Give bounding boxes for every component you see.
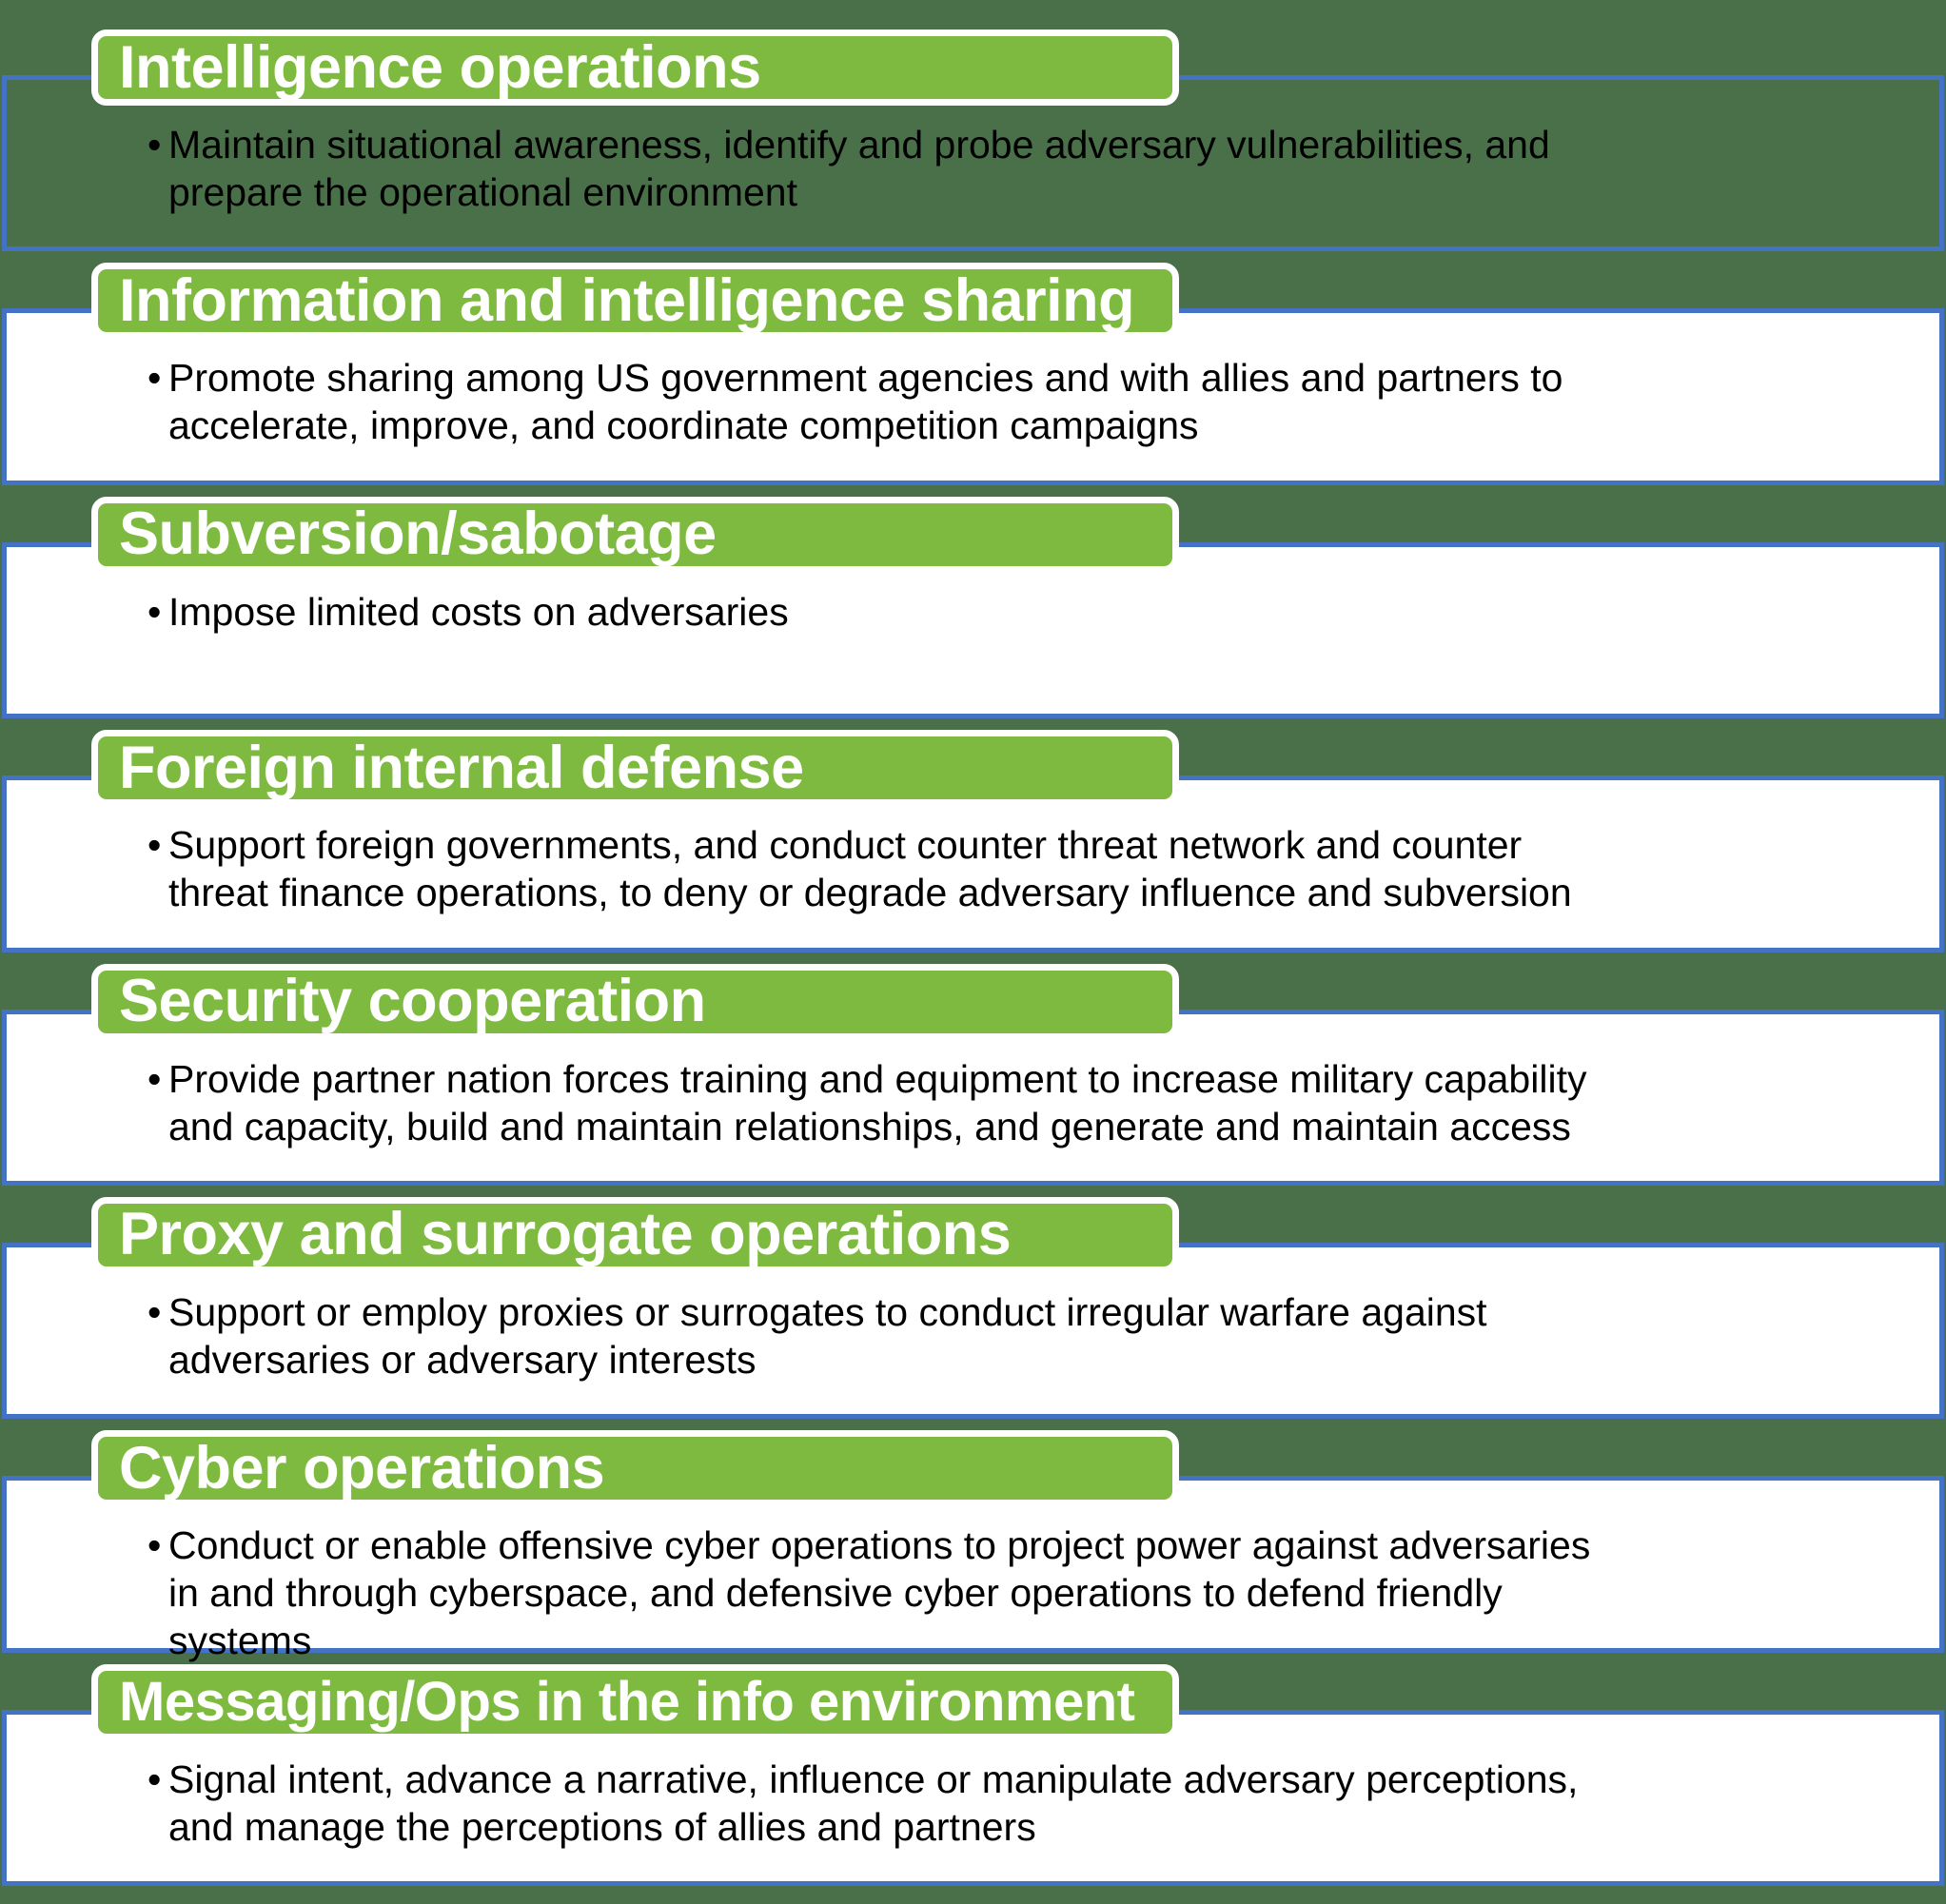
bullet-dot-icon: • xyxy=(147,1055,167,1103)
bullet-item: • Signal intent, advance a narrative, in… xyxy=(147,1756,1889,1851)
bullet-line: threat finance operations, to deny or de… xyxy=(168,869,1860,916)
bullet-dot-icon: • xyxy=(147,821,167,869)
section-body-proxy-and-surrogate-operations: • Support or employ proxies or surrogate… xyxy=(147,1288,1860,1384)
bullet-line: and manage the perceptions of allies and… xyxy=(168,1803,1889,1851)
bullet-text: Maintain situational awareness, identify… xyxy=(168,121,1860,216)
section-header-label: Intelligence operations xyxy=(119,38,761,98)
bullet-dot-icon: • xyxy=(147,1521,167,1569)
bullet-text: Impose limited costs on adversaries xyxy=(168,588,1860,636)
bullet-line: systems xyxy=(168,1617,1889,1664)
bullet-text: Support foreign governments, and conduct… xyxy=(168,821,1860,916)
bullet-line: Signal intent, advance a narrative, infl… xyxy=(168,1756,1889,1803)
bullet-line: Provide partner nation forces training a… xyxy=(168,1055,1917,1103)
bullet-text: Provide partner nation forces training a… xyxy=(168,1055,1917,1150)
bullet-line: Support or employ proxies or surrogates … xyxy=(168,1288,1860,1336)
bullet-item: • Support foreign governments, and condu… xyxy=(147,821,1860,916)
bullet-line: in and through cyberspace, and defensive… xyxy=(168,1569,1889,1617)
section-body-foreign-internal-defense: • Support foreign governments, and condu… xyxy=(147,821,1860,916)
bullet-dot-icon: • xyxy=(147,121,167,168)
bullet-item: • Support or employ proxies or surrogate… xyxy=(147,1288,1860,1384)
bullet-text: Support or employ proxies or surrogates … xyxy=(168,1288,1860,1384)
section-header-pill-messaging-ops-in-the-info-environment[interactable]: Messaging/Ops in the info environment xyxy=(91,1664,1179,1740)
section-header-pill-foreign-internal-defense[interactable]: Foreign internal defense xyxy=(91,730,1179,806)
bullet-line: Conduct or enable offensive cyber operat… xyxy=(168,1521,1889,1569)
bullet-dot-icon: • xyxy=(147,354,167,402)
section-header-label: Security cooperation xyxy=(119,972,706,1031)
section-body-subversion-sabotage: • Impose limited costs on adversaries xyxy=(147,588,1860,636)
bullet-dot-icon: • xyxy=(147,588,167,636)
bullet-text: Conduct or enable offensive cyber operat… xyxy=(168,1521,1889,1664)
section-header-pill-subversion-sabotage[interactable]: Subversion/sabotage xyxy=(91,497,1179,573)
bullet-item: • Promote sharing among US government ag… xyxy=(147,354,1860,449)
bullet-item: • Provide partner nation forces training… xyxy=(147,1055,1917,1150)
bullet-line: Promote sharing among US government agen… xyxy=(168,354,1860,402)
section-header-label: Cyber operations xyxy=(119,1439,604,1499)
bullet-item: • Conduct or enable offensive cyber oper… xyxy=(147,1521,1889,1664)
bullet-dot-icon: • xyxy=(147,1756,167,1803)
section-body-messaging-ops-in-the-info-environment: • Signal intent, advance a narrative, in… xyxy=(147,1756,1889,1851)
bullet-line: Impose limited costs on adversaries xyxy=(168,588,1860,636)
bullet-item: • Impose limited costs on adversaries xyxy=(147,588,1860,636)
section-header-label: Subversion/sabotage xyxy=(119,504,717,564)
bullet-line: adversaries or adversary interests xyxy=(168,1336,1860,1384)
bullet-text: Promote sharing among US government agen… xyxy=(168,354,1860,449)
bullet-line: and capacity, build and maintain relatio… xyxy=(168,1103,1917,1150)
bullet-dot-icon: • xyxy=(147,1288,167,1336)
bullet-line: Support foreign governments, and conduct… xyxy=(168,821,1860,869)
section-header-label: Information and intelligence sharing xyxy=(119,271,1134,331)
bullet-item: • Maintain situational awareness, identi… xyxy=(147,121,1860,216)
bullet-line: prepare the operational environment xyxy=(168,168,1860,216)
section-body-cyber-operations: • Conduct or enable offensive cyber oper… xyxy=(147,1521,1889,1664)
section-body-intelligence-operations: • Maintain situational awareness, identi… xyxy=(147,121,1860,216)
infographic-canvas: Intelligence operations • Maintain situa… xyxy=(0,0,1946,1904)
section-body-information-and-intelligence-sharing: • Promote sharing among US government ag… xyxy=(147,354,1860,449)
section-header-label: Proxy and surrogate operations xyxy=(119,1205,1011,1265)
bullet-line: Maintain situational awareness, identify… xyxy=(168,121,1860,168)
bullet-text: Signal intent, advance a narrative, infl… xyxy=(168,1756,1889,1851)
bullet-line: accelerate, improve, and coordinate comp… xyxy=(168,402,1860,449)
section-header-label: Messaging/Ops in the info environment xyxy=(119,1675,1135,1730)
section-body-security-cooperation: • Provide partner nation forces training… xyxy=(147,1055,1917,1150)
section-header-pill-intelligence-operations[interactable]: Intelligence operations xyxy=(91,29,1179,106)
section-header-pill-information-and-intelligence-sharing[interactable]: Information and intelligence sharing xyxy=(91,263,1179,339)
section-header-pill-cyber-operations[interactable]: Cyber operations xyxy=(91,1430,1179,1506)
section-header-pill-proxy-and-surrogate-operations[interactable]: Proxy and surrogate operations xyxy=(91,1197,1179,1273)
section-header-pill-security-cooperation[interactable]: Security cooperation xyxy=(91,964,1179,1040)
section-header-label: Foreign internal defense xyxy=(119,738,804,798)
